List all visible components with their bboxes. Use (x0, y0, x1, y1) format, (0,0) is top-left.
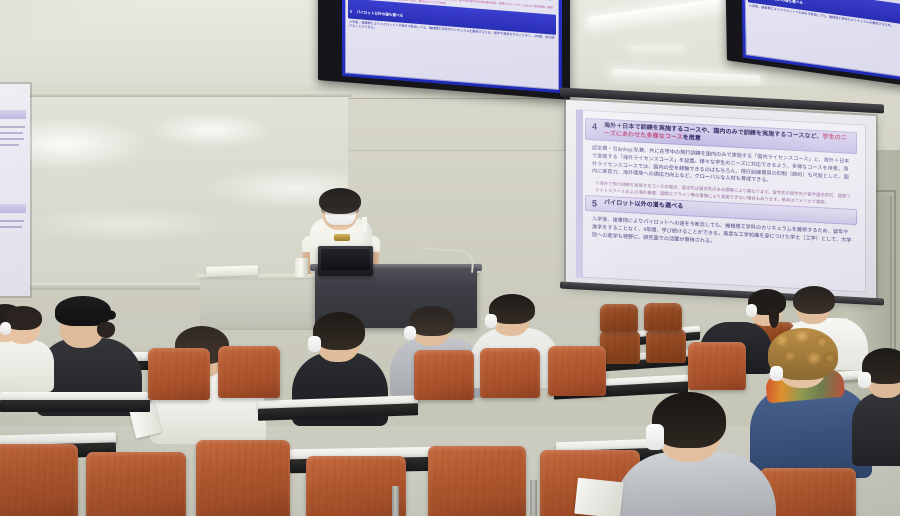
face-mask (858, 372, 871, 388)
presenter-badge (334, 234, 350, 241)
face-mask (646, 424, 664, 450)
seat[interactable] (414, 350, 474, 400)
front-desk (200, 278, 320, 330)
slide-text-line (0, 144, 19, 146)
seat[interactable] (86, 452, 186, 516)
slide-text-line (0, 220, 24, 222)
monitor-slide: 様々な学生のニーズに対応できるよう、多様なコースを用意。海外ライセンスコースでは… (345, 0, 559, 90)
face-mask (0, 322, 11, 335)
paper-stack (206, 265, 258, 277)
face-mask (308, 336, 321, 352)
handout-paper (574, 478, 624, 516)
student-hair (793, 286, 835, 314)
slide-section-4-number: 4 (590, 121, 599, 132)
seat[interactable] (548, 346, 606, 396)
monitor-slide-heading-5-title: パイロット以外の道も選べる (756, 0, 803, 5)
hair-bun (97, 322, 115, 338)
podium-monitor[interactable] (318, 246, 373, 276)
slide-accent-bar (576, 109, 583, 277)
slide-text-line (0, 126, 25, 128)
slide-text-line (0, 226, 22, 228)
seat-leg (530, 480, 537, 516)
paper-cup (295, 258, 308, 277)
presenter-hair (319, 188, 361, 214)
seat-leg (392, 486, 399, 516)
slide-heading-band (0, 110, 26, 119)
seat[interactable] (646, 329, 686, 363)
seat[interactable] (644, 303, 682, 331)
seat[interactable] (480, 348, 540, 398)
monitor-slide-heading-5-number: 5 (350, 9, 352, 13)
face-mask (746, 304, 757, 317)
slide-text-line (0, 138, 24, 140)
seat[interactable] (0, 444, 78, 516)
desk-rail (0, 400, 150, 412)
seat[interactable] (688, 342, 746, 390)
seat[interactable] (600, 304, 638, 332)
face-mask (404, 326, 416, 340)
seat[interactable] (196, 440, 290, 516)
ceiling-light-fixture (630, 46, 684, 50)
whiteboard-top-rail (0, 92, 352, 97)
slide-section-5-title: パイロット以外の道も選べる (604, 199, 683, 211)
seat[interactable] (428, 446, 526, 516)
wall-seam (348, 150, 578, 151)
monitor-slide-heading-5-title: パイロット以外の道も選べる (356, 10, 403, 18)
seat[interactable] (600, 330, 640, 364)
face-mask (485, 314, 497, 328)
gooseneck-microphone (419, 247, 474, 273)
slide-text-line (0, 132, 23, 134)
slide-heading-band (0, 204, 26, 213)
slide-section-5-number: 5 (590, 198, 599, 209)
main-projection-screen: 4 海外＋日本で訓練を実施するコースや、国内のみで訓練を実施するコースなど、学生… (566, 100, 876, 302)
seat[interactable] (218, 346, 280, 398)
seat[interactable] (306, 456, 406, 516)
student-torso (0, 340, 54, 392)
left-edge-projection-screen (0, 84, 30, 296)
student-torso (852, 392, 900, 466)
monitor-screen: 様々な学生のニーズに対応できるよう、多様なコースを用意。海外ライセンスコースでは… (342, 0, 562, 93)
lecture-hall-photo: 様々な学生のニーズに対応できるよう、多様なコースを用意。海外ライセンスコースでは… (0, 0, 900, 516)
ponytail (769, 306, 779, 328)
face-mask (770, 366, 783, 381)
seat[interactable] (148, 348, 210, 400)
projected-slide: 4 海外＋日本で訓練を実施するコースや、国内のみで訓練を実施するコースなど、学生… (576, 109, 866, 292)
